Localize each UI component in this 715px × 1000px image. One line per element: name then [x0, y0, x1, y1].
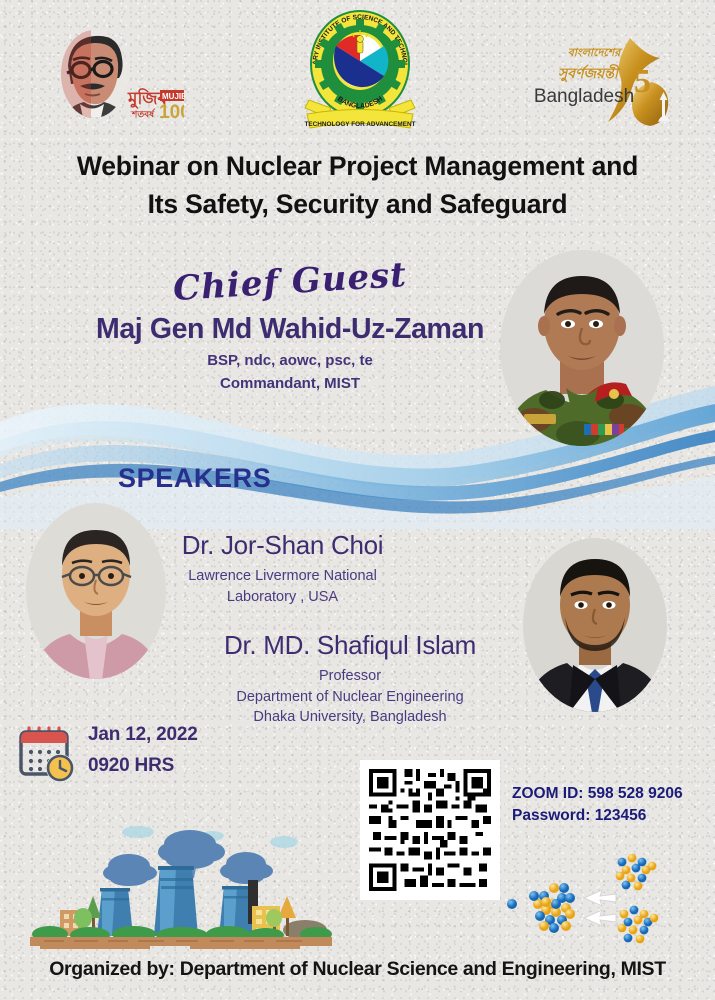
event-date: Jan 12, 2022: [88, 724, 198, 746]
svg-text:বাংলাদেশের: বাংলাদেশের: [568, 47, 624, 59]
nuclear-power-plant-illustration: [30, 822, 332, 950]
svg-text:100: 100: [159, 102, 184, 123]
svg-text:সুবর্ণজয়ন্তী: সুবর্ণজয়ন্তী: [558, 64, 621, 83]
chief-guest-portrait: [492, 248, 672, 448]
mist-logo: MILITARY INSTITUTE OF SCIENCE AND TECHNO…: [291, 8, 429, 136]
schedule-block: Jan 12, 2022 0920 HRS: [16, 722, 226, 792]
speaker-one-portrait: [22, 502, 170, 680]
mujib-100-logo: মুজিব শতবর্ষ MUJIB 100: [52, 28, 184, 128]
organizer-footer: Organized by: Department of Nuclear Scie…: [0, 958, 715, 981]
chief-guest-label: Chief Guest: [119, 252, 461, 313]
svg-text:Bangladesh: Bangladesh: [534, 86, 634, 107]
speaker-two-name: Dr. MD. Shafiqul Islam: [180, 630, 520, 661]
webinar-poster: মুজিব শতবর্ষ MUJIB 100 MILITARY INSTITUT…: [0, 0, 715, 1000]
speaker-two-affiliation-line-3: Dhaka University, Bangladesh: [180, 707, 520, 728]
page-title: Webinar on Nuclear Project Management an…: [0, 148, 715, 223]
speakers-heading: SPEAKERS: [118, 463, 271, 494]
title-line-2: Its Safety, Security and Safeguard: [0, 186, 715, 224]
qr-code[interactable]: [360, 760, 500, 900]
svg-text:শতবর্ষ: শতবর্ষ: [131, 108, 156, 119]
speaker-two-affiliation: Professor Department of Nuclear Engineer…: [180, 666, 520, 728]
speaker-two-affiliation-line-2: Department of Nuclear Engineering: [180, 687, 520, 708]
calendar-clock-icon: [16, 724, 78, 786]
zoom-id: ZOOM ID: 598 528 9206: [512, 783, 712, 805]
svg-text:MUJIB: MUJIB: [162, 92, 184, 101]
nuclear-fission-illustration: [500, 842, 680, 950]
speaker-two-affiliation-line-1: Professor: [180, 666, 520, 687]
svg-text:5: 5: [634, 63, 651, 100]
title-line-1: Webinar on Nuclear Project Management an…: [0, 148, 715, 186]
event-time: 0920 HRS: [88, 755, 174, 777]
zoom-meeting-info: ZOOM ID: 598 528 9206 Password: 123456: [512, 783, 712, 828]
zoom-password: Password: 123456: [512, 805, 712, 827]
svg-text:TECHNOLOGY FOR ADVANCEMENT: TECHNOLOGY FOR ADVANCEMENT: [304, 121, 415, 128]
bangladesh-50-logo: বাংলাদেশের সুবর্ণজয়ন্তী Bangladesh 5: [522, 30, 680, 128]
speaker-two-portrait: [517, 537, 673, 713]
